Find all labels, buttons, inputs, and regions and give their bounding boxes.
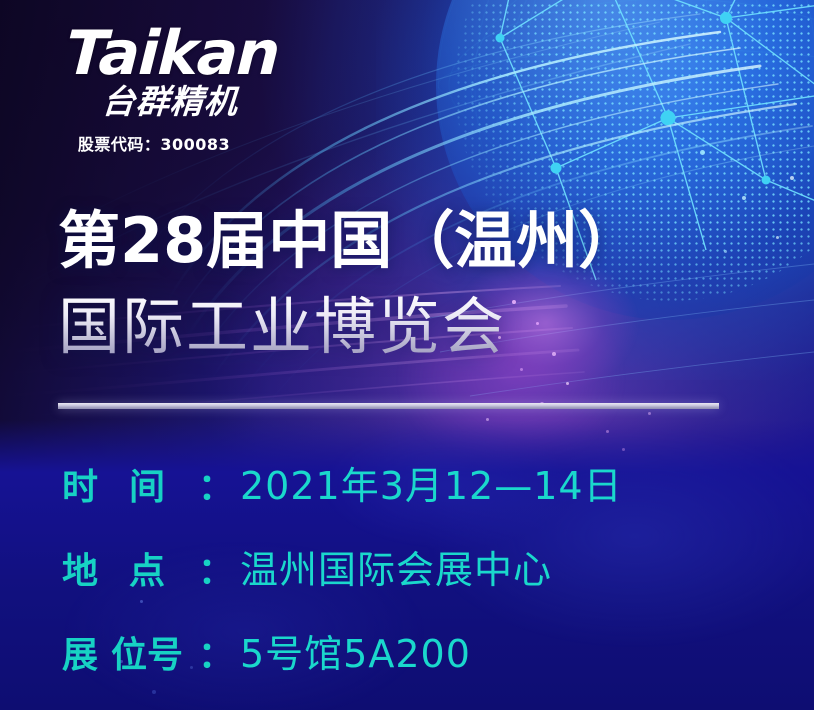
logo-wordmark: Taikan <box>65 26 281 82</box>
info-label-venue-char2: 点 <box>129 542 165 594</box>
info-label-time-char1: 时 <box>62 458 98 510</box>
info-value-booth: 5号馆5A200 <box>240 623 471 678</box>
event-info-list: 时 间 ： 2021年3月12—14日 地 点 ： 温州国际会展中心 展 位号 … <box>62 455 623 707</box>
info-row-booth: 展 位号 ： 5号馆5A200 <box>62 623 623 707</box>
info-label-time-colon: ： <box>198 458 234 510</box>
brand-logo: Taikan 台群精机 股票代码：300083 <box>66 26 279 155</box>
stock-code-text: 股票代码：300083 <box>66 131 242 155</box>
info-label-booth-colon: ： <box>198 626 234 678</box>
info-label-time: 时 间 ： <box>62 458 234 510</box>
logo-chinese-name: 台群精机 <box>65 85 239 118</box>
info-label-time-char2: 间 <box>129 458 165 510</box>
info-label-venue-char1: 地 <box>62 542 98 594</box>
info-row-venue: 地 点 ： 温州国际会展中心 <box>62 539 623 623</box>
page-title-line1: 第28届中国（温州） <box>58 206 640 275</box>
info-label-booth-char2: 位号 <box>111 626 183 678</box>
page-title-line2: 国际工业博览会 <box>58 292 506 361</box>
info-label-venue: 地 点 ： <box>62 542 234 594</box>
exhibition-poster: Taikan 台群精机 股票代码：300083 第28届中国（温州） 国际工业博… <box>0 0 814 710</box>
info-label-booth-char1: 展 <box>62 626 98 678</box>
info-value-time: 2021年3月12—14日 <box>240 455 623 510</box>
divider <box>58 403 719 409</box>
info-row-time: 时 间 ： 2021年3月12—14日 <box>62 455 623 539</box>
info-label-booth: 展 位号 ： <box>62 626 234 678</box>
info-value-venue: 温州国际会展中心 <box>240 539 552 594</box>
info-label-venue-colon: ： <box>198 542 234 594</box>
